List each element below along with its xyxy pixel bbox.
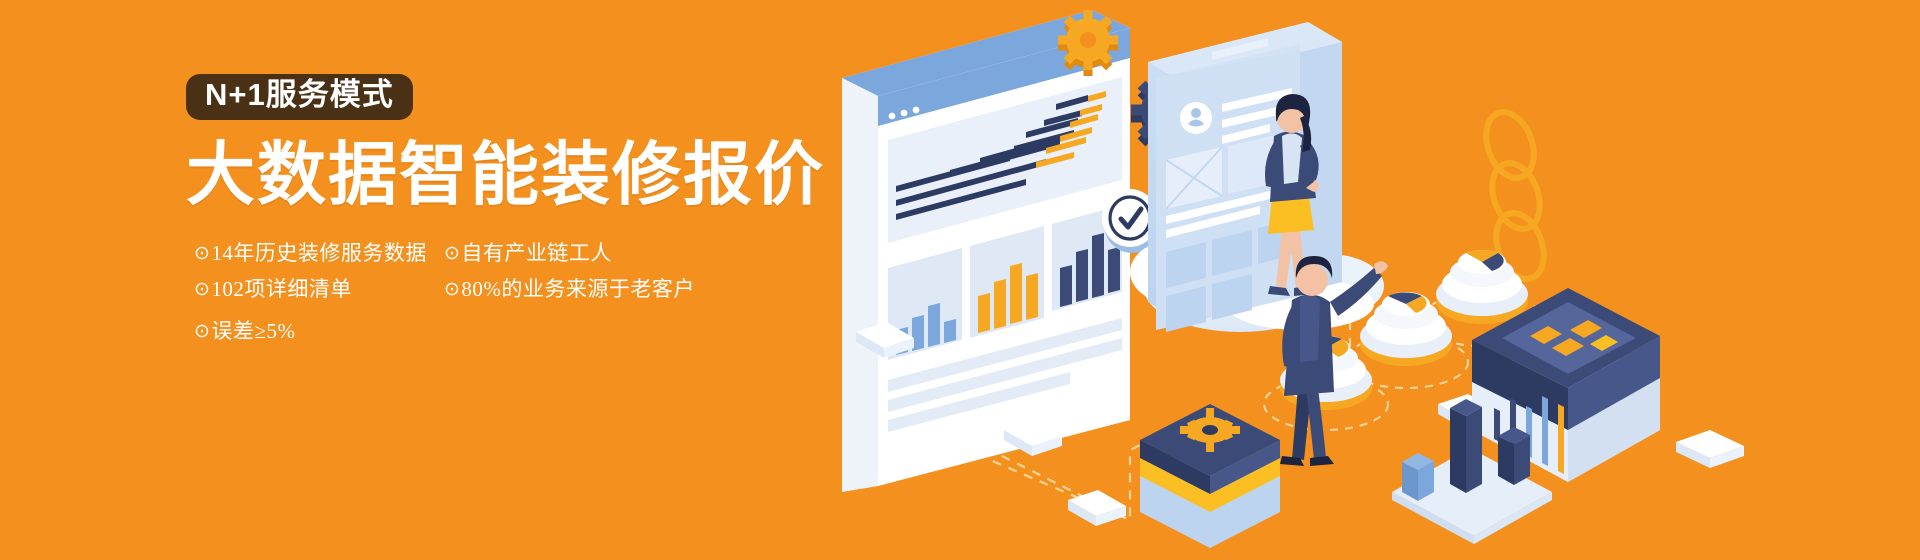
promo-banner: N+1服务模式 大数据智能装修报价 ⊙ 14年历史装修服务数据 ⊙ 102项详细… bbox=[0, 0, 1920, 560]
bullet-column-right: ⊙ 自有产业链工人 ⊙ 80%的业务来源于老客户 bbox=[444, 235, 695, 307]
big-data-illustration bbox=[830, 0, 1920, 560]
list-item-label: 14年历史装修服务数据 bbox=[211, 235, 427, 271]
page-title: 大数据智能装修报价 bbox=[186, 138, 846, 211]
feature-bullets: ⊙ 14年历史装修服务数据 ⊙ 102项详细清单 ⊙ 误差≥5% ⊙ 自有产业链… bbox=[186, 235, 716, 353]
service-model-badge: N+1服务模式 bbox=[186, 74, 413, 120]
gear-orange-large bbox=[1058, 10, 1118, 76]
bullet-dot-icon: ⊙ bbox=[194, 322, 210, 341]
copy-block: N+1服务模式 大数据智能装修报价 ⊙ 14年历史装修服务数据 ⊙ 102项详细… bbox=[186, 74, 846, 353]
database-hexagon-gear bbox=[1140, 404, 1280, 548]
list-item-label: 自有产业链工人 bbox=[461, 235, 612, 271]
list-item: ⊙ 14年历史装修服务数据 bbox=[194, 235, 427, 271]
bullet-dot-icon: ⊙ bbox=[194, 280, 210, 299]
floating-tile bbox=[1676, 430, 1744, 468]
bullet-dot-icon: ⊙ bbox=[444, 280, 460, 299]
bullet-dot-icon: ⊙ bbox=[194, 244, 210, 263]
floating-tile bbox=[1068, 490, 1126, 526]
list-item-label: 误差≥5% bbox=[211, 313, 295, 349]
list-item: ⊙ 误差≥5% bbox=[194, 313, 427, 349]
list-item: ⊙ 自有产业链工人 bbox=[444, 235, 695, 271]
list-item-label: 80%的业务来源于老客户 bbox=[461, 271, 695, 307]
bullet-dot-icon: ⊙ bbox=[444, 244, 460, 263]
browser-window-dashboard bbox=[842, 10, 1130, 492]
list-item-label: 102项详细清单 bbox=[211, 271, 352, 307]
list-item: ⊙ 102项详细清单 bbox=[194, 271, 427, 307]
list-item: ⊙ 80%的业务来源于老客户 bbox=[444, 271, 695, 307]
bullet-column-left: ⊙ 14年历史装修服务数据 ⊙ 102项详细清单 ⊙ 误差≥5% bbox=[194, 235, 427, 349]
